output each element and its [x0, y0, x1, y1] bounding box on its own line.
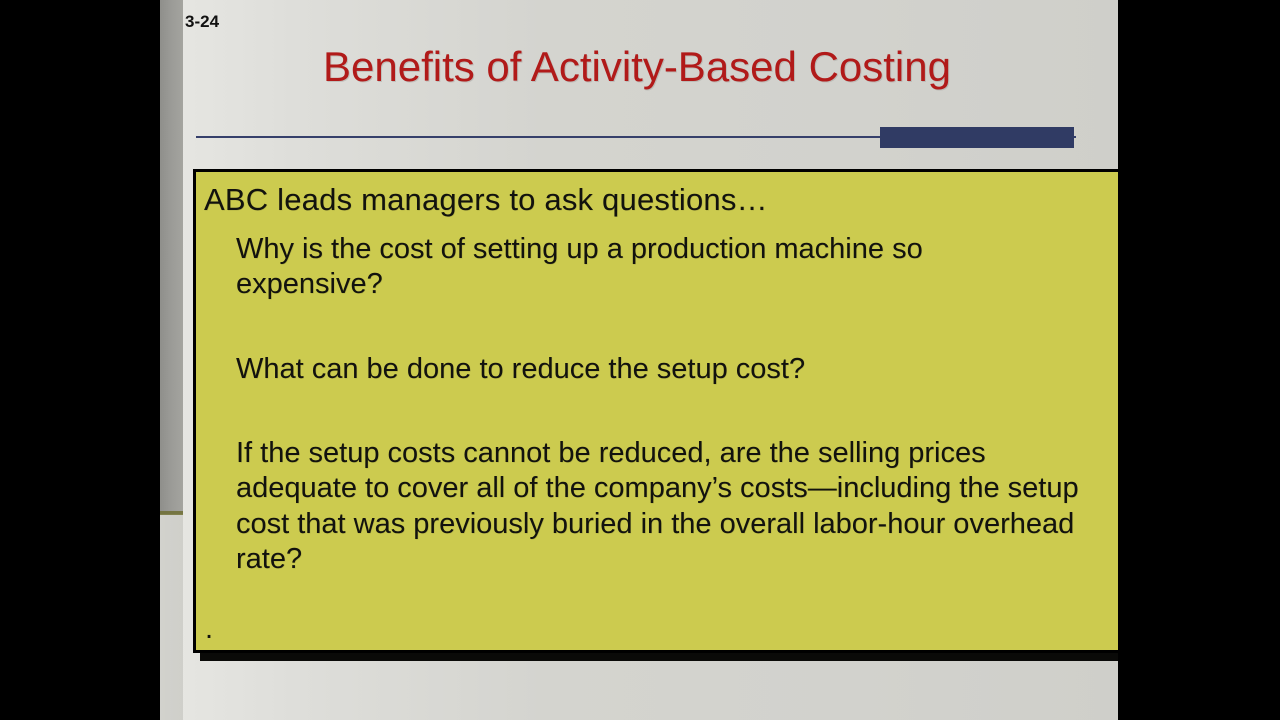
page-title: Benefits of Activity-Based Costing	[196, 43, 1078, 91]
question-item-1: Why is the cost of setting up a producti…	[236, 232, 1076, 303]
content-box-inner: ABC leads managers to ask questions… Why…	[196, 172, 1118, 650]
left-margin-band	[160, 0, 183, 514]
content-box: ABC leads managers to ask questions… Why…	[193, 169, 1118, 653]
presentation-stage: 3-24 Benefits of Activity-Based Costing …	[0, 0, 1280, 720]
trailing-period-mark: .	[205, 615, 213, 644]
slide-canvas: 3-24 Benefits of Activity-Based Costing …	[160, 0, 1118, 720]
left-margin-band-lower	[160, 515, 183, 720]
slide-number: 3-24	[185, 12, 219, 32]
title-accent-tab	[880, 127, 1074, 148]
question-item-3: If the setup costs cannot be reduced, ar…	[236, 436, 1102, 578]
question-item-2: What can be done to reduce the setup cos…	[236, 352, 1076, 387]
content-heading: ABC leads managers to ask questions…	[204, 181, 768, 219]
